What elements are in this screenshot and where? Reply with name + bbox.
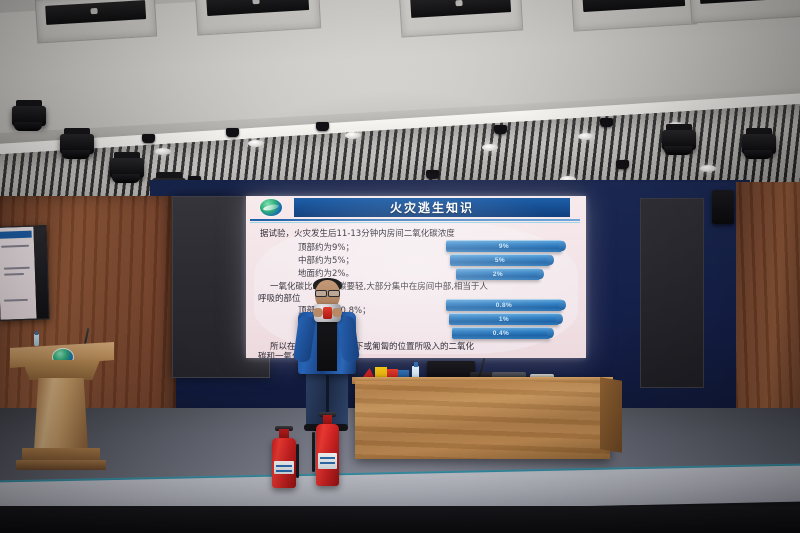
slide-title: 火灾逃生知识 <box>390 199 474 216</box>
slide-line-1: 据试验，火灾发生后11-13分钟内房间二氧化碳浓度 <box>260 228 455 240</box>
co-funnel-chart: 0.8% 1% 0.4% <box>446 299 564 341</box>
ceiling-downlight <box>248 140 264 147</box>
ceiling-downlight <box>700 165 716 172</box>
ceiling-downlight <box>482 144 498 151</box>
funnel-bar-label: 0.4% <box>493 330 509 337</box>
ceiling-downlight <box>578 133 594 140</box>
slide-divider <box>250 219 580 221</box>
ceiling-downlight <box>155 148 171 155</box>
fire-extinguisher <box>272 426 296 488</box>
funnel-bar-label: 2% <box>493 271 503 278</box>
presenter-hand-left <box>313 308 323 317</box>
ceiling-downlight <box>345 132 361 139</box>
presenter <box>296 280 358 430</box>
ceiling-spot-icon <box>426 170 439 179</box>
podium <box>10 342 114 472</box>
podium-water-bottle <box>34 334 39 346</box>
presentation-table <box>355 381 610 459</box>
funnel-bar: 0.4% <box>452 327 550 339</box>
ceiling-spot-icon <box>600 118 613 127</box>
slide-line-2: 顶部约为9%； <box>298 242 354 254</box>
wall-speaker <box>712 190 734 224</box>
ceiling-spot-icon <box>142 134 155 143</box>
funnel-bar-label: 1% <box>499 316 509 323</box>
podium-apron <box>22 360 100 380</box>
podium-column <box>34 378 88 450</box>
funnel-bar-label: 5% <box>495 257 505 264</box>
slide-line-6: 呼吸的部位 <box>258 293 301 305</box>
ceiling-spot-icon <box>616 160 629 169</box>
glasses-icon <box>315 290 340 295</box>
podium-plinth <box>16 460 106 470</box>
table-side-panel <box>600 377 622 452</box>
funnel-bar: 0.8% <box>446 299 562 311</box>
foreground-shadow <box>0 506 800 533</box>
slide-line-3: 中部约为5%； <box>298 255 354 267</box>
dark-screen-panel-right <box>640 198 704 388</box>
funnel-bar: 1% <box>449 313 559 325</box>
ceiling-spot-icon <box>316 122 329 131</box>
hvac-vent <box>35 0 157 44</box>
confidence-monitor <box>0 225 50 321</box>
funnel-bar-label: 9% <box>499 243 509 250</box>
fire-extinguisher <box>316 412 339 486</box>
globe-swoosh-icon <box>260 199 282 216</box>
slide-divider-2 <box>250 222 580 223</box>
auditorium-photo: 火灾逃生知识 据试验，火灾发生后11-13分钟内房间二氧化碳浓度 顶部约为9%；… <box>0 0 800 533</box>
slide-title-bar: 火灾逃生知识 <box>294 198 570 217</box>
funnel-bar-label: 0.8% <box>496 302 512 309</box>
funnel-bar: 2% <box>456 268 540 280</box>
funnel-bar: 9% <box>446 240 562 252</box>
ceiling-spot-icon <box>494 125 507 134</box>
funnel-bar: 5% <box>450 254 550 266</box>
slide-logo <box>258 199 284 217</box>
presenter-hand-right <box>332 308 342 317</box>
wood-wall-right <box>736 182 800 432</box>
ceiling-spot-icon <box>226 128 239 137</box>
co2-funnel-chart: 9% 5% 2% <box>446 240 564 282</box>
